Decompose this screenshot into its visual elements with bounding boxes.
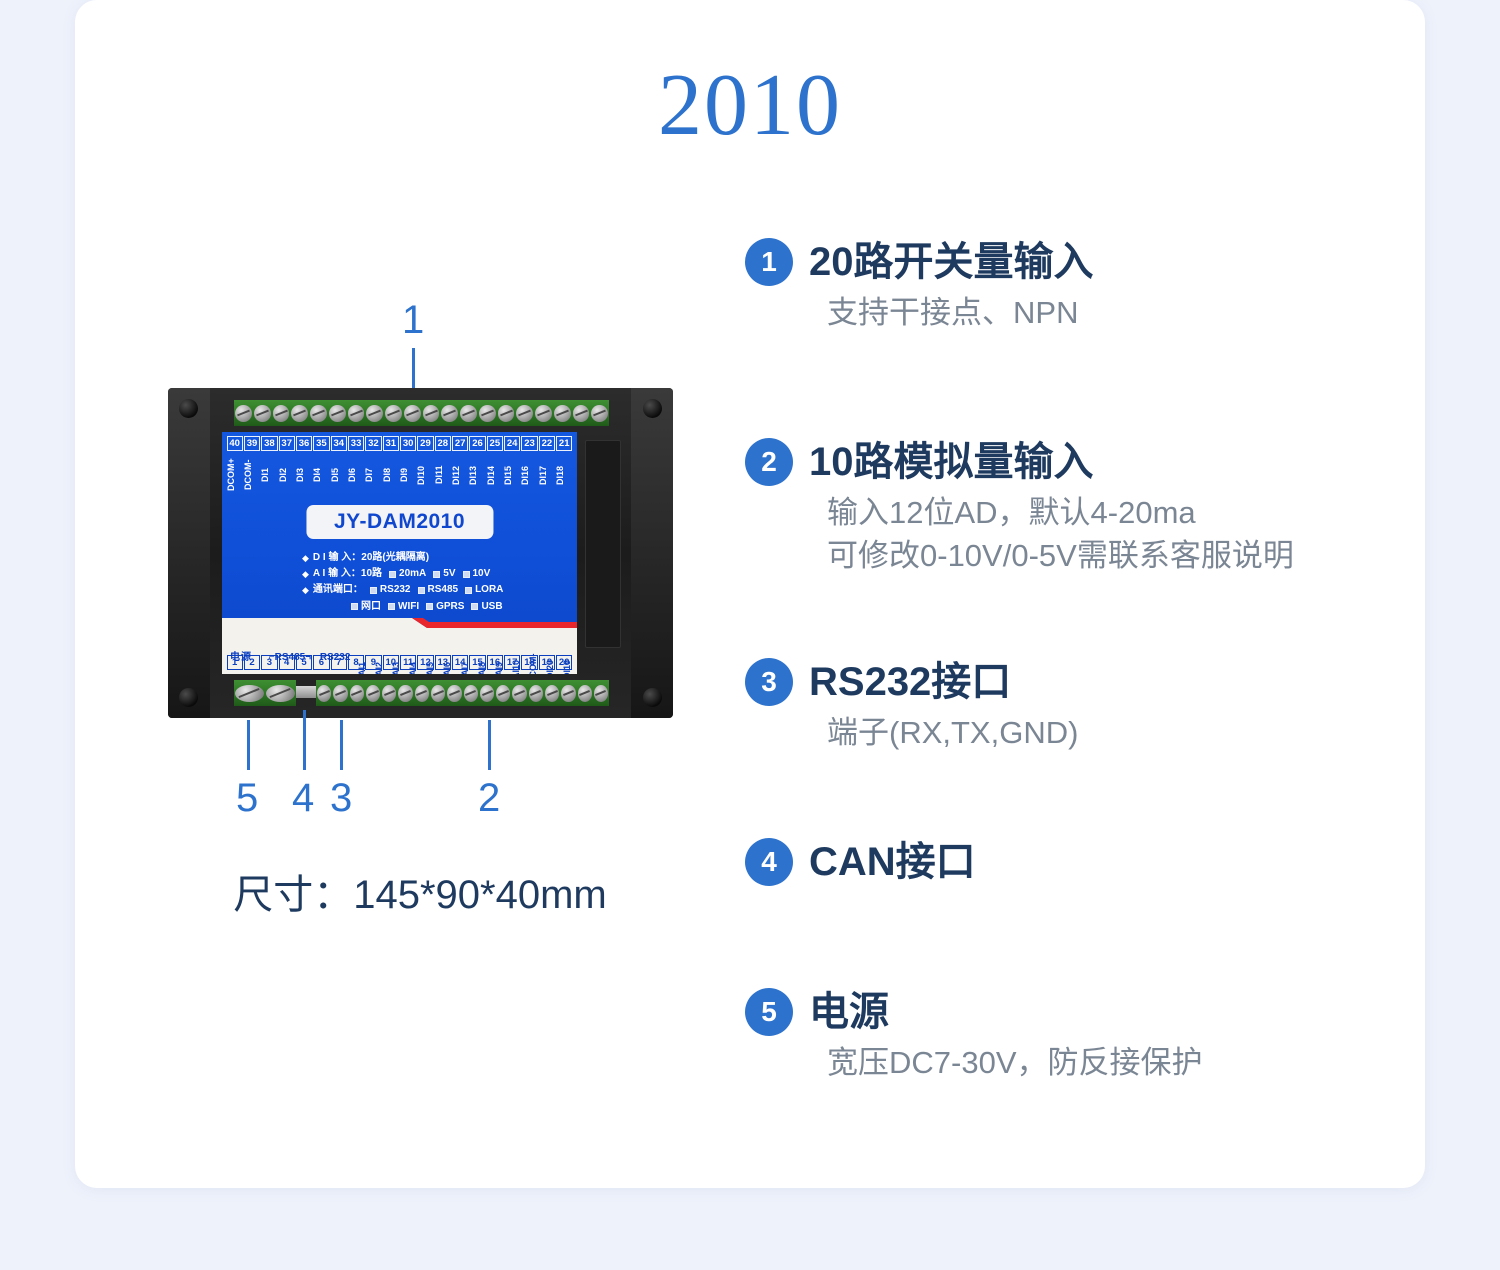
terminal-number: 14 xyxy=(452,655,468,670)
terminal-label: DI8 xyxy=(383,453,399,497)
feature-item-4: 4CAN接口 xyxy=(745,838,976,886)
terminal-label: DI15 xyxy=(504,453,520,497)
terminal-number: 7 xyxy=(331,655,347,670)
checkbox-label: LORA xyxy=(475,582,503,598)
terminal-number: 19 xyxy=(539,655,555,670)
feature-title: 10路模拟量输入 xyxy=(809,440,1094,484)
checkbox-icon xyxy=(388,603,395,610)
terminal-number: 6 xyxy=(313,655,329,670)
terminal-number: 12 xyxy=(417,655,433,670)
checkbox-label: WIFI xyxy=(398,599,419,615)
terminal-screw-icon xyxy=(545,685,559,702)
feature-title: RS232接口 xyxy=(809,660,1011,704)
checkbox-icon xyxy=(463,571,470,578)
terminal-screw-icon xyxy=(310,405,327,422)
callout-number-5: 5 xyxy=(236,778,258,818)
terminal-number: 33 xyxy=(348,436,364,451)
terminal-label: DI11 xyxy=(435,453,451,497)
terminal-number: 34 xyxy=(331,436,347,451)
terminal-label: DI16 xyxy=(521,453,537,497)
feature-badge-2: 2 xyxy=(745,438,793,486)
product-illustration: 1 xyxy=(150,280,690,940)
checkbox-label: GPRS xyxy=(436,599,464,615)
feature-subtitles: 输入12位AD，默认4-20ma可修改0-10V/0-5V需联系客服说明 xyxy=(827,492,1294,578)
spec-line: ◆A I 输 入：10路20mA5V10V xyxy=(302,566,503,582)
feature-item-3: 3RS232接口端子(RX,TX,GND) xyxy=(745,658,1078,755)
checkbox-icon xyxy=(389,571,396,578)
top-terminal-label-row: DCOM+DCOM-DI1DI2DI3DI4DI5DI6DI7DI8DI9DI1… xyxy=(226,453,573,497)
terminal-number: 15 xyxy=(469,655,485,670)
feature-header: 4CAN接口 xyxy=(745,838,976,886)
terminal-screw-icon xyxy=(561,685,575,702)
terminal-screw-icon xyxy=(480,685,494,702)
terminal-screw-icon xyxy=(479,405,496,422)
terminal-label: DI17 xyxy=(539,453,555,497)
terminal-number: 20 xyxy=(556,655,572,670)
screw-hole-icon xyxy=(643,688,662,707)
callout-number-1: 1 xyxy=(402,300,424,340)
terminal-number: 30 xyxy=(400,436,416,451)
terminal-screw-icon xyxy=(460,405,477,422)
checkbox-icon xyxy=(418,587,425,594)
terminal-label: DI4 xyxy=(313,453,329,497)
terminal-screw-icon xyxy=(591,405,608,422)
spec-line: 网口WIFIGPRSUSB xyxy=(302,599,503,615)
terminal-number: 31 xyxy=(383,436,399,451)
feature-item-1: 120路开关量输入支持干接点、NPN xyxy=(745,238,1094,335)
terminal-label: DI13 xyxy=(469,453,485,497)
terminal-number: 38 xyxy=(261,436,277,451)
callout-leader-5 xyxy=(247,720,250,770)
checkbox-label: 20mA xyxy=(399,566,426,582)
terminal-label: DI14 xyxy=(487,453,503,497)
terminal-screw-icon xyxy=(366,405,383,422)
terminal-screw-icon xyxy=(329,405,346,422)
terminal-number: 23 xyxy=(521,436,537,451)
checkbox-label: RS485 xyxy=(428,582,459,598)
terminal-label: DI7 xyxy=(365,453,381,497)
terminal-number: 27 xyxy=(452,436,468,451)
spec-line: ◆通讯端口：RS232RS485LORA xyxy=(302,582,503,598)
callout-leader-3 xyxy=(340,720,343,770)
terminal-number: 3 xyxy=(261,655,277,670)
terminal-screw-icon xyxy=(317,685,331,702)
terminal-label: DI1 xyxy=(261,453,277,497)
enclosure-vent-slot xyxy=(585,440,621,648)
terminal-screw-icon xyxy=(254,405,271,422)
terminal-screw-icon xyxy=(266,685,295,702)
terminal-number: 39 xyxy=(244,436,260,451)
terminal-label: DI9 xyxy=(400,453,416,497)
terminal-screw-icon xyxy=(398,685,412,702)
terminal-screw-icon xyxy=(516,405,533,422)
screw-hole-icon xyxy=(179,399,198,418)
terminal-screw-icon xyxy=(447,685,461,702)
callout-leader-2 xyxy=(488,720,491,770)
feature-subtitle: 端子(RX,TX,GND) xyxy=(827,712,1078,755)
checkbox-icon xyxy=(433,571,440,578)
feature-subtitle: 宽压DC7-30V，防反接保护 xyxy=(827,1042,1203,1085)
feature-header: 3RS232接口 xyxy=(745,658,1078,706)
terminal-screw-icon xyxy=(423,405,440,422)
spec-text: 通讯端口： xyxy=(313,582,363,598)
terminal-number: 28 xyxy=(435,436,451,451)
terminal-screw-icon xyxy=(350,685,364,702)
callout-number-4: 4 xyxy=(292,778,314,818)
terminal-screw-icon xyxy=(512,685,526,702)
terminal-number: 35 xyxy=(313,436,329,451)
feature-header: 5电源 xyxy=(745,988,1203,1036)
terminal-number: 5 xyxy=(296,655,312,670)
checkbox-icon xyxy=(426,603,433,610)
feature-badge-3: 3 xyxy=(745,658,793,706)
checkbox-icon xyxy=(370,587,377,594)
mounting-ear-left xyxy=(168,388,210,718)
terminal-block-top xyxy=(234,400,609,426)
terminal-screw-icon xyxy=(235,405,252,422)
terminal-screw-icon xyxy=(291,405,308,422)
terminal-number: 8 xyxy=(348,655,364,670)
terminal-number: 17 xyxy=(504,655,520,670)
terminal-screw-icon xyxy=(498,405,515,422)
checkbox-label: 网口 xyxy=(361,599,381,615)
terminal-screw-icon xyxy=(273,405,290,422)
terminal-label: DI2 xyxy=(279,453,295,497)
feature-badge-4: 4 xyxy=(745,838,793,886)
terminal-number: 4 xyxy=(279,655,295,670)
terminal-block-bottom xyxy=(316,680,609,706)
feature-subtitle: 可修改0-10V/0-5V需联系客服说明 xyxy=(827,535,1294,578)
terminal-screw-icon xyxy=(235,685,264,702)
callout-number-2: 2 xyxy=(478,778,500,818)
feature-header: 120路开关量输入 xyxy=(745,238,1094,286)
terminal-screw-icon xyxy=(464,685,478,702)
feature-title: CAN接口 xyxy=(809,840,976,884)
terminal-number: 36 xyxy=(296,436,312,451)
terminal-screw-icon xyxy=(554,405,571,422)
terminal-number: 18 xyxy=(521,655,537,670)
terminal-number: 9 xyxy=(365,655,381,670)
mounting-ear-right xyxy=(631,388,673,718)
callout-leader-4 xyxy=(303,710,306,770)
terminal-number: 2 xyxy=(244,655,260,670)
terminal-label: DCOM+ xyxy=(227,453,243,497)
terminal-screw-icon xyxy=(348,405,365,422)
terminal-number: 13 xyxy=(435,655,451,670)
terminal-number: 21 xyxy=(556,436,572,451)
terminal-number: 22 xyxy=(539,436,555,451)
page-title: 2010 xyxy=(0,62,1500,150)
terminal-number: 16 xyxy=(487,655,503,670)
feature-badge-1: 1 xyxy=(745,238,793,286)
checkbox-icon xyxy=(465,587,472,594)
terminal-number: 40 xyxy=(227,436,243,451)
terminal-label: DI5 xyxy=(331,453,347,497)
terminal-label: DI10 xyxy=(417,453,433,497)
feature-subtitle: 输入12位AD，默认4-20ma xyxy=(827,492,1294,535)
spec-text: D I 输 入：20路(光耦隔离) xyxy=(313,550,429,566)
terminal-number: 25 xyxy=(487,436,503,451)
checkbox-label: 10V xyxy=(473,566,491,582)
feature-title: 电源 xyxy=(809,990,889,1034)
terminal-number: 24 xyxy=(504,436,520,451)
spec-line: ◆D I 输 入：20路(光耦隔离) xyxy=(302,550,503,566)
terminal-number: 26 xyxy=(469,436,485,451)
terminal-number: 32 xyxy=(365,436,381,451)
device-front-label: 4039383736353433323130292827262524232221… xyxy=(222,432,577,674)
terminal-number: 10 xyxy=(383,655,399,670)
terminal-screw-icon xyxy=(431,685,445,702)
terminal-screw-icon xyxy=(366,685,380,702)
feature-title: 20路开关量输入 xyxy=(809,240,1094,284)
terminal-number: 37 xyxy=(279,436,295,451)
terminal-label: DCOM- xyxy=(244,453,260,497)
terminal-screw-icon xyxy=(535,405,552,422)
top-terminal-number-row: 4039383736353433323130292827262524232221 xyxy=(226,436,573,451)
terminal-screw-icon xyxy=(333,685,347,702)
terminal-screw-icon xyxy=(573,405,590,422)
bottom-terminal-number-row: 1234567891011121314151617181920 xyxy=(226,655,573,670)
terminal-screw-icon xyxy=(404,405,421,422)
terminal-screw-icon xyxy=(415,685,429,702)
checkbox-icon xyxy=(471,603,478,610)
feature-subtitles: 宽压DC7-30V，防反接保护 xyxy=(827,1042,1203,1085)
device-enclosure: 4039383736353433323130292827262524232221… xyxy=(168,388,673,718)
checkbox-icon xyxy=(351,603,358,610)
screw-hole-icon xyxy=(179,688,198,707)
terminal-label: DI6 xyxy=(348,453,364,497)
feature-subtitles: 支持干接点、NPN xyxy=(827,292,1094,335)
feature-item-5: 5电源宽压DC7-30V，防反接保护 xyxy=(745,988,1203,1085)
terminal-screw-icon xyxy=(594,685,608,702)
terminal-number: 11 xyxy=(400,655,416,670)
terminal-screw-icon xyxy=(382,685,396,702)
checkbox-label: 5V xyxy=(443,566,455,582)
feature-item-2: 210路模拟量输入输入12位AD，默认4-20ma可修改0-10V/0-5V需联… xyxy=(745,438,1294,578)
terminal-number: 29 xyxy=(417,436,433,451)
feature-subtitle: 支持干接点、NPN xyxy=(827,292,1094,335)
feature-header: 210路模拟量输入 xyxy=(745,438,1294,486)
terminal-label: DI3 xyxy=(296,453,312,497)
terminal-screw-icon xyxy=(529,685,543,702)
bullet-icon: ◆ xyxy=(302,583,309,598)
terminal-number: 1 xyxy=(227,655,243,670)
terminal-screw-icon xyxy=(385,405,402,422)
terminal-screw-icon xyxy=(496,685,510,702)
screw-hole-icon xyxy=(643,399,662,418)
feature-badge-5: 5 xyxy=(745,988,793,1036)
terminal-screw-icon xyxy=(578,685,592,702)
spec-text: A I 输 入：10路 xyxy=(313,566,382,582)
checkbox-label: USB xyxy=(481,599,502,615)
bullet-icon: ◆ xyxy=(302,567,309,582)
terminal-label: DI12 xyxy=(452,453,468,497)
terminal-block-power xyxy=(234,680,296,706)
callout-number-3: 3 xyxy=(330,778,352,818)
checkbox-label: RS232 xyxy=(380,582,411,598)
spec-block: ◆D I 输 入：20路(光耦隔离)◆A I 输 入：10路20mA5V10V◆… xyxy=(302,550,503,615)
model-badge: JY-DAM2010 xyxy=(306,505,493,539)
feature-subtitles: 端子(RX,TX,GND) xyxy=(827,712,1078,755)
terminal-screw-icon xyxy=(441,405,458,422)
dimension-text: 尺寸：145*90*40mm xyxy=(150,862,690,920)
product-spec-page: 2010 1 xyxy=(0,0,1500,1270)
terminal-label: DI18 xyxy=(556,453,572,497)
bullet-icon: ◆ xyxy=(302,551,309,566)
